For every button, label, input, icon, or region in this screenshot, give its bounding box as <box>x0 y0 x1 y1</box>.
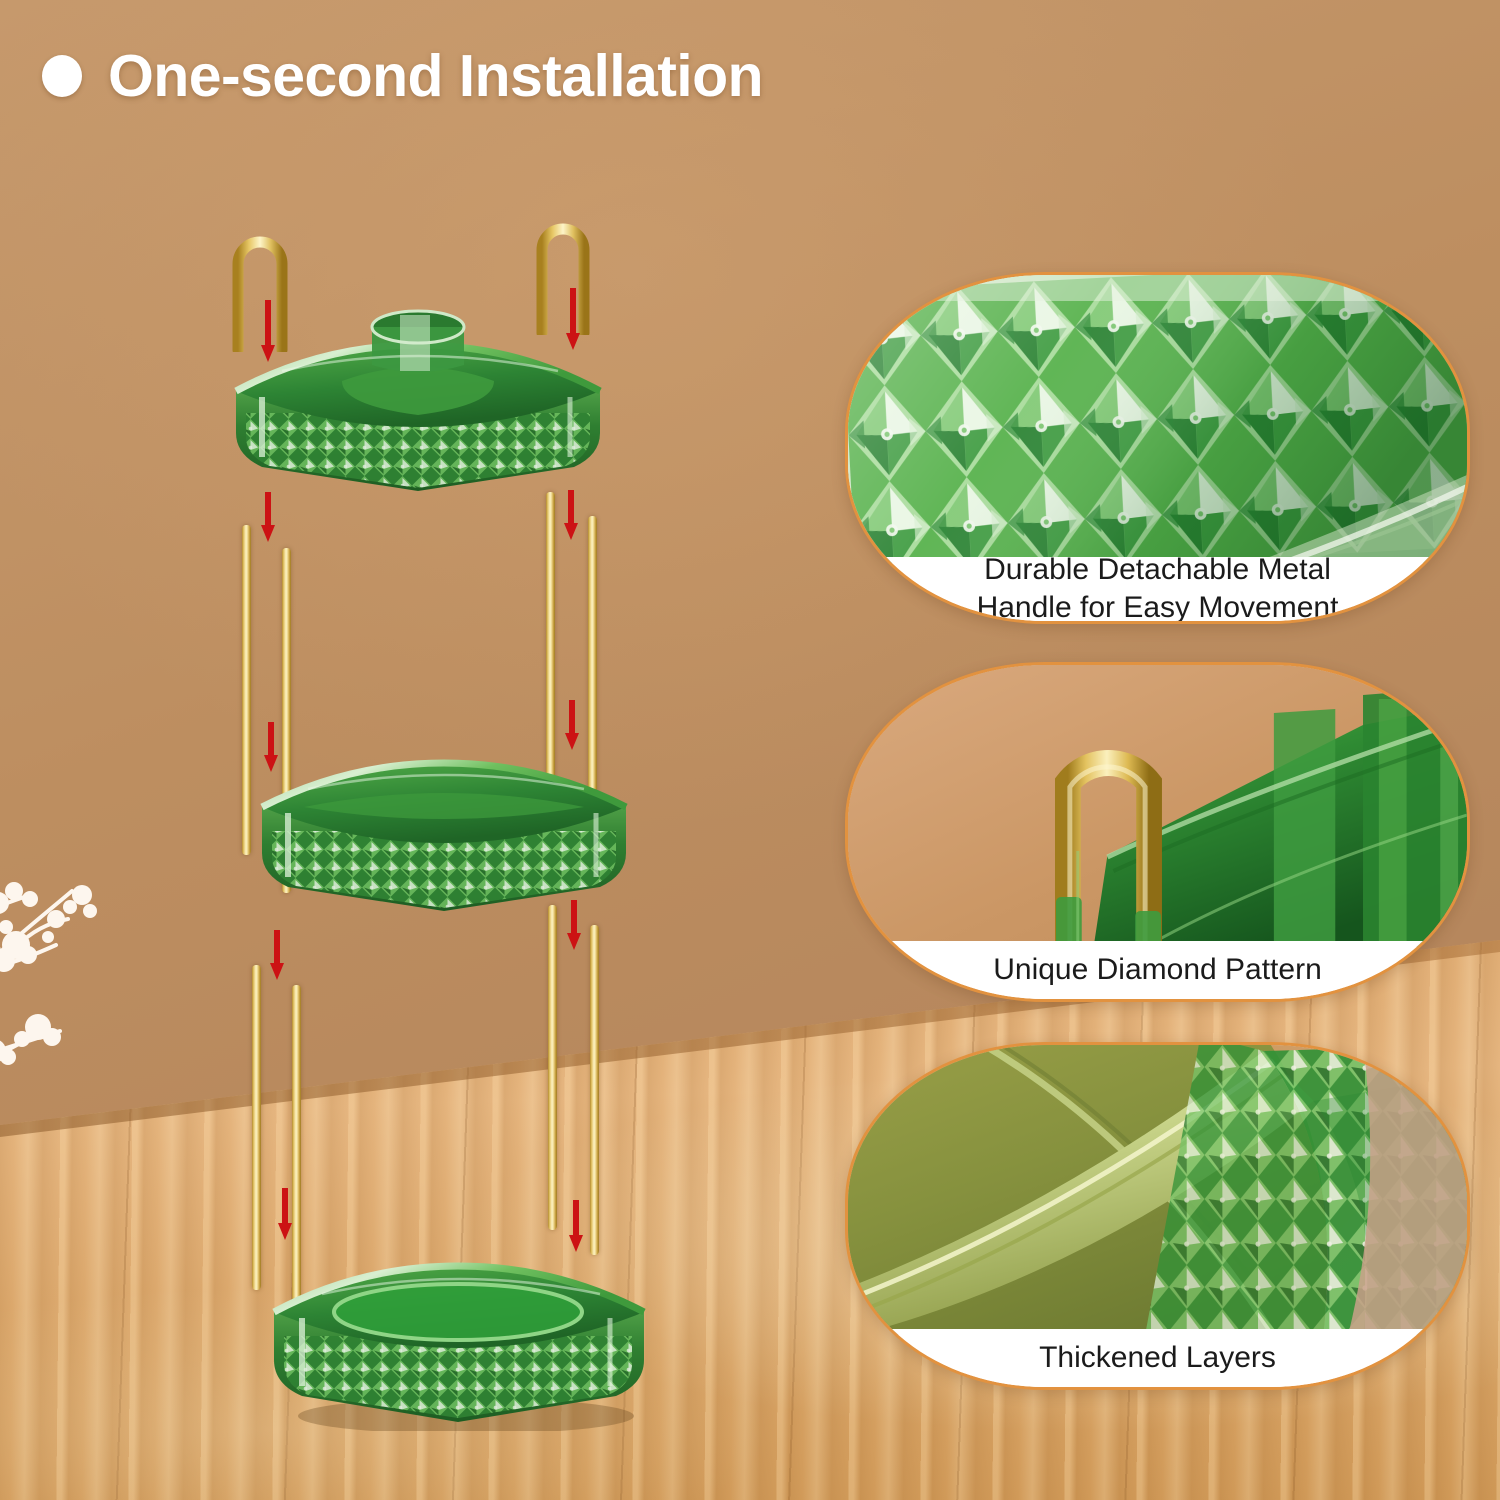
caption-line: Handle for Easy Movement <box>977 591 1339 624</box>
assembly-arrow-down <box>567 900 581 950</box>
caption-line: Thickened Layers <box>1039 1339 1276 1377</box>
top-tier-tray <box>222 305 614 505</box>
caption-line: Durable Detachable Metal <box>984 553 1331 586</box>
connector-rod <box>590 925 599 1255</box>
assembly-arrow-down <box>565 700 579 750</box>
gold-handle-on-tray-photo <box>848 665 1467 947</box>
diamond-pattern-closeup-photo <box>848 275 1467 563</box>
assembly-arrow-down <box>564 490 578 540</box>
connector-rod <box>252 965 261 1290</box>
feature-card-thickened-layers[interactable]: Thickened Layers <box>845 1042 1470 1390</box>
tray-thick-rim-closeup-photo <box>848 1045 1467 1335</box>
feature-card-caption: Durable Detachable Metal Handle for Easy… <box>848 557 1467 621</box>
assembly-arrow-down <box>270 930 284 980</box>
bottom-tier-tray <box>258 1246 658 1431</box>
feature-card-metal-handle[interactable]: Durable Detachable Metal Handle for Easy… <box>845 272 1470 624</box>
one-second-installation-diagram <box>0 0 830 1500</box>
connector-rod <box>548 905 557 1230</box>
feature-card-caption: Unique Diamond Pattern <box>848 941 1467 999</box>
assembly-arrow-down <box>278 1188 292 1240</box>
caption-line: Unique Diamond Pattern <box>993 951 1322 989</box>
middle-tier-tray <box>248 745 640 920</box>
assembly-arrow-down <box>261 492 275 542</box>
feature-card-caption: Thickened Layers <box>848 1329 1467 1387</box>
assembly-arrow-down <box>569 1200 583 1252</box>
feature-card-diamond-pattern[interactable]: Unique Diamond Pattern <box>845 662 1470 1002</box>
